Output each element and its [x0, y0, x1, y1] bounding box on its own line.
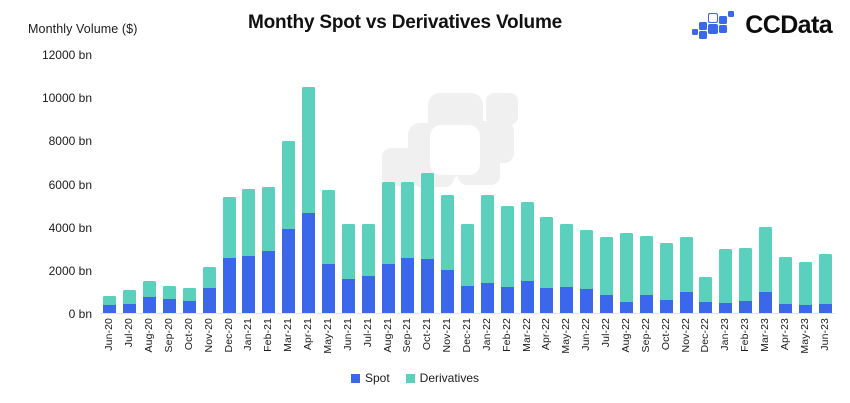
legend-label-derivatives: Derivatives — [420, 371, 479, 385]
bar-segment-spot[interactable] — [401, 258, 414, 314]
bar-group[interactable] — [779, 257, 792, 314]
bar-group[interactable] — [699, 277, 712, 314]
x-axis-label: Jun-23 — [819, 318, 832, 351]
bar-segment-derivatives[interactable] — [799, 262, 812, 305]
x-axis-label: Apr-23 — [779, 318, 792, 350]
bar-segment-derivatives[interactable] — [719, 249, 732, 303]
x-axis-label: Dec-21 — [461, 318, 474, 352]
bar-group[interactable] — [401, 182, 414, 314]
chart-root: Monthly Volume ($) Monthy Spot vs Deriva… — [0, 0, 850, 403]
bar-group[interactable] — [183, 288, 196, 314]
bar-segment-spot[interactable] — [640, 295, 653, 314]
y-axis-tick-10000: 10000 bn — [42, 91, 92, 105]
bar-group[interactable] — [262, 187, 275, 314]
x-axis-label: Aug-21 — [382, 318, 395, 352]
bar-segment-derivatives[interactable] — [382, 182, 395, 264]
x-axis-label: Oct-22 — [660, 318, 673, 350]
x-axis-labels: Jun-20Jul-20Aug-20Sep-20Oct-20Nov-20Dec-… — [100, 318, 835, 368]
bar-segment-derivatives[interactable] — [302, 87, 315, 212]
bar-segment-spot[interactable] — [521, 281, 534, 314]
x-axis-label: Feb-23 — [739, 318, 752, 352]
x-axis-label: Sep-21 — [401, 318, 414, 352]
bar-segment-derivatives[interactable] — [342, 224, 355, 279]
bar-group[interactable] — [540, 217, 553, 314]
bar-group[interactable] — [501, 206, 514, 314]
x-axis-label: May-21 — [322, 318, 335, 354]
bar-group[interactable] — [739, 248, 752, 314]
bar-segment-spot[interactable] — [223, 258, 236, 314]
bar-group[interactable] — [441, 195, 454, 314]
x-axis-baseline — [100, 313, 835, 315]
bar-segment-spot[interactable] — [680, 292, 693, 314]
bar-segment-derivatives[interactable] — [262, 187, 275, 252]
x-axis-label: Nov-22 — [680, 318, 693, 352]
bar-series-container — [100, 55, 835, 314]
bar-segment-spot[interactable] — [362, 276, 375, 314]
bar-group[interactable] — [560, 224, 573, 314]
bar-group[interactable] — [342, 224, 355, 314]
bar-group[interactable] — [223, 197, 236, 314]
bar-segment-derivatives[interactable] — [143, 281, 156, 297]
bar-segment-derivatives[interactable] — [699, 277, 712, 302]
brand-name: CCData — [745, 13, 832, 38]
x-axis-label: Jan-22 — [481, 318, 494, 351]
bar-segment-derivatives[interactable] — [779, 257, 792, 304]
bar-segment-spot[interactable] — [759, 292, 772, 314]
bar-segment-derivatives[interactable] — [819, 254, 832, 305]
x-axis-label: Oct-20 — [183, 318, 196, 350]
x-axis-label: Jun-20 — [103, 318, 116, 351]
x-axis-label: Jul-20 — [123, 318, 136, 347]
bar-segment-spot[interactable] — [461, 286, 474, 314]
bar-segment-derivatives[interactable] — [739, 248, 752, 301]
x-axis-label: Dec-22 — [699, 318, 712, 352]
bar-segment-derivatives[interactable] — [501, 206, 514, 287]
legend-item-spot[interactable]: Spot — [351, 371, 390, 385]
bar-segment-derivatives[interactable] — [223, 197, 236, 257]
bar-group[interactable] — [123, 290, 136, 314]
x-axis-label: Mar-21 — [282, 318, 295, 352]
bar-segment-spot[interactable] — [382, 264, 395, 314]
brand-logo: CCData — [692, 10, 832, 40]
bar-group[interactable] — [282, 141, 295, 314]
x-axis-label: May-23 — [799, 318, 812, 354]
x-axis-label: Feb-22 — [501, 318, 514, 352]
ccdata-logo-icon — [692, 10, 736, 40]
x-axis-label: May-22 — [560, 318, 573, 354]
bar-segment-derivatives[interactable] — [441, 195, 454, 269]
y-axis-tick-12000: 12000 bn — [42, 48, 92, 62]
bar-segment-spot[interactable] — [242, 256, 255, 314]
bar-segment-derivatives[interactable] — [560, 224, 573, 287]
bar-group[interactable] — [640, 236, 653, 314]
bar-segment-spot[interactable] — [302, 213, 315, 314]
chart-legend: Spot Derivatives — [0, 371, 850, 385]
bar-group[interactable] — [719, 249, 732, 314]
legend-swatch-derivatives — [406, 374, 415, 383]
x-axis-label: Apr-22 — [540, 318, 553, 350]
bar-group[interactable] — [302, 87, 315, 314]
bar-group[interactable] — [660, 243, 673, 314]
bar-group[interactable] — [382, 182, 395, 314]
plot-area — [100, 55, 835, 314]
bar-group[interactable] — [481, 195, 494, 314]
bar-segment-derivatives[interactable] — [580, 230, 593, 289]
bar-group[interactable] — [680, 237, 693, 314]
bar-segment-spot[interactable] — [421, 259, 434, 314]
bar-segment-derivatives[interactable] — [322, 190, 335, 264]
x-axis-label: Dec-20 — [223, 318, 236, 352]
bar-segment-derivatives[interactable] — [103, 296, 116, 306]
x-axis-label: Mar-23 — [759, 318, 772, 352]
bar-group[interactable] — [242, 189, 255, 314]
bar-segment-spot[interactable] — [441, 270, 454, 314]
bar-segment-spot[interactable] — [342, 279, 355, 314]
x-axis-label: Jun-21 — [342, 318, 355, 351]
bar-segment-spot[interactable] — [262, 251, 275, 314]
bar-segment-spot[interactable] — [481, 283, 494, 314]
x-axis-label: Jul-21 — [362, 318, 375, 347]
bar-group[interactable] — [620, 233, 633, 314]
bar-segment-spot[interactable] — [540, 288, 553, 314]
x-axis-label: Sep-22 — [640, 318, 653, 352]
bar-segment-spot[interactable] — [282, 229, 295, 314]
bar-segment-derivatives[interactable] — [640, 236, 653, 294]
bar-segment-derivatives[interactable] — [600, 237, 613, 294]
bar-group[interactable] — [799, 262, 812, 314]
bar-segment-derivatives[interactable] — [362, 224, 375, 276]
bar-segment-spot[interactable] — [501, 287, 514, 314]
x-axis-label: Mar-22 — [521, 318, 534, 352]
bar-group[interactable] — [103, 296, 116, 314]
bar-segment-derivatives[interactable] — [481, 195, 494, 282]
bar-segment-derivatives[interactable] — [461, 224, 474, 286]
x-axis-label: Aug-20 — [143, 318, 156, 352]
bar-segment-derivatives[interactable] — [163, 286, 176, 299]
bar-group[interactable] — [759, 227, 772, 314]
y-axis-tick-8000: 8000 bn — [49, 134, 92, 148]
bar-segment-derivatives[interactable] — [203, 267, 216, 289]
x-axis-label: Jan-23 — [719, 318, 732, 351]
bar-segment-derivatives[interactable] — [123, 290, 136, 304]
x-axis-label: Sep-20 — [163, 318, 176, 352]
bar-segment-derivatives[interactable] — [421, 173, 434, 259]
bar-segment-spot[interactable] — [203, 288, 216, 314]
bar-group[interactable] — [421, 173, 434, 314]
x-axis-label: Jun-22 — [580, 318, 593, 351]
bar-segment-spot[interactable] — [560, 287, 573, 314]
bar-segment-derivatives[interactable] — [282, 141, 295, 228]
bar-group[interactable] — [143, 281, 156, 314]
bar-group[interactable] — [521, 202, 534, 314]
x-axis-label: Jul-22 — [600, 318, 613, 347]
bar-segment-spot[interactable] — [600, 295, 613, 314]
bar-group[interactable] — [322, 190, 335, 314]
x-axis-label: Aug-22 — [620, 318, 633, 352]
x-axis-label: Oct-21 — [421, 318, 434, 350]
bar-segment-spot[interactable] — [322, 264, 335, 314]
x-axis-label: Apr-21 — [302, 318, 315, 350]
y-axis: 0 bn2000 bn4000 bn6000 bn8000 bn10000 bn… — [0, 55, 92, 314]
y-axis-tick-2000: 2000 bn — [49, 264, 92, 278]
y-axis-tick-4000: 4000 bn — [49, 221, 92, 235]
bar-group[interactable] — [600, 237, 613, 314]
bar-group[interactable] — [203, 267, 216, 314]
bar-segment-derivatives[interactable] — [242, 189, 255, 256]
bar-group[interactable] — [163, 286, 176, 314]
bar-segment-derivatives[interactable] — [620, 233, 633, 302]
legend-swatch-spot — [351, 374, 360, 383]
bar-group[interactable] — [461, 224, 474, 314]
legend-label-spot: Spot — [365, 371, 390, 385]
bar-segment-derivatives[interactable] — [401, 182, 414, 258]
bar-group[interactable] — [580, 230, 593, 314]
bar-group[interactable] — [362, 224, 375, 314]
x-axis-label: Nov-20 — [203, 318, 216, 352]
bar-segment-derivatives[interactable] — [660, 243, 673, 300]
bar-segment-derivatives[interactable] — [540, 217, 553, 288]
legend-item-derivatives[interactable]: Derivatives — [406, 371, 479, 385]
x-axis-label: Feb-21 — [262, 318, 275, 352]
bar-segment-derivatives[interactable] — [759, 227, 772, 293]
y-axis-tick-6000: 6000 bn — [49, 178, 92, 192]
bar-segment-derivatives[interactable] — [183, 288, 196, 301]
y-axis-tick-0: 0 bn — [69, 307, 92, 321]
bar-segment-derivatives[interactable] — [521, 202, 534, 281]
bar-group[interactable] — [819, 254, 832, 314]
bar-segment-spot[interactable] — [580, 289, 593, 314]
bar-segment-spot[interactable] — [143, 297, 156, 314]
x-axis-label: Jan-21 — [242, 318, 255, 351]
x-axis-label: Nov-21 — [441, 318, 454, 352]
bar-segment-derivatives[interactable] — [680, 237, 693, 292]
